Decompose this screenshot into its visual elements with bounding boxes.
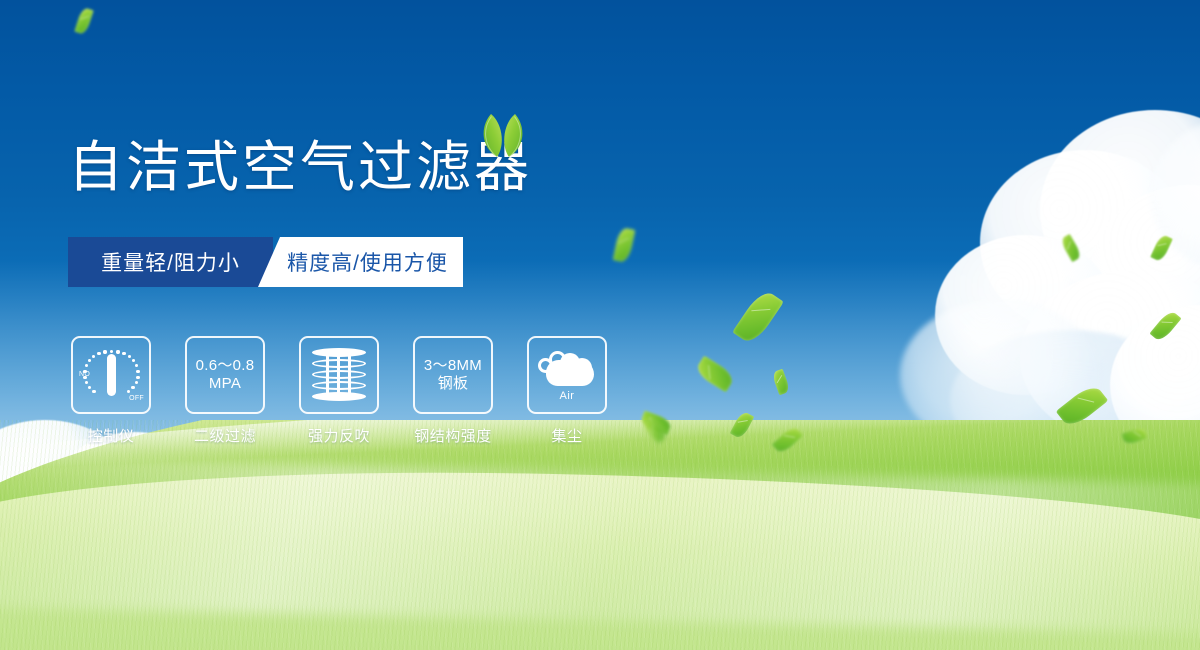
- steel-value-line1: 3～8MM: [424, 357, 482, 375]
- feature-item-two-stage-filter[interactable]: 0.6～0.8 MPA 二级过滤: [182, 336, 268, 446]
- page-title: 自洁式空气过滤器: [68, 140, 532, 195]
- cloud-body: [546, 360, 594, 386]
- feature-item-dust-collection[interactable]: Air 集尘: [524, 336, 610, 446]
- subtitle-bar: 重量轻/阻力小 精度高/使用方便: [68, 237, 463, 287]
- feature-caption: 钢结构强度: [410, 425, 496, 446]
- feature-icon-box: 3～8MM 钢板: [413, 336, 493, 414]
- grass-texture: [0, 420, 1200, 650]
- feature-icon-box: [299, 336, 379, 414]
- gauge-label-on: NO: [79, 371, 90, 378]
- feature-icon-box: 0.6～0.8 MPA: [185, 336, 265, 414]
- pressure-value-line1: 0.6～0.8: [196, 357, 255, 375]
- grass-field: [0, 420, 1200, 650]
- gauge-switch-icon: NO OFF: [80, 346, 142, 404]
- air-label: Air: [560, 390, 575, 402]
- feature-item-control-gauge[interactable]: NO OFF 控制仪: [68, 336, 154, 446]
- feature-caption: 控制仪: [68, 425, 154, 446]
- gauge-label-off: OFF: [129, 395, 144, 402]
- feature-icon-box: NO OFF: [71, 336, 151, 414]
- feature-list: NO OFF 控制仪 0.6～0.8 MPA 二级过滤: [68, 336, 610, 446]
- feature-item-strong-backblow[interactable]: 强力反吹: [296, 336, 382, 446]
- air-cloud-icon: [538, 348, 596, 388]
- feature-caption: 集尘: [524, 425, 610, 446]
- steel-value-line2: 钢板: [438, 375, 469, 393]
- feature-caption: 强力反吹: [296, 425, 382, 446]
- gauge-needle: [107, 354, 116, 396]
- feature-icon-box: Air: [527, 336, 607, 414]
- product-hero-banner: 自洁式空气过滤器 重量轻/阻力小 精度高/使用方便: [0, 0, 1200, 650]
- sprout-leaves-icon: [472, 112, 532, 158]
- feature-item-steel-strength[interactable]: 3～8MM 钢板 钢结构强度: [410, 336, 496, 446]
- subtitle-segment-left: 重量轻/阻力小: [68, 237, 273, 287]
- subtitle-left-text: 重量轻/阻力小: [101, 247, 240, 277]
- subtitle-segment-right: 精度高/使用方便: [258, 237, 463, 287]
- filter-discs-icon: [312, 346, 366, 404]
- pressure-value-line2: MPA: [209, 375, 241, 393]
- feature-caption: 二级过滤: [182, 425, 268, 446]
- subtitle-right-text: 精度高/使用方便: [273, 247, 448, 277]
